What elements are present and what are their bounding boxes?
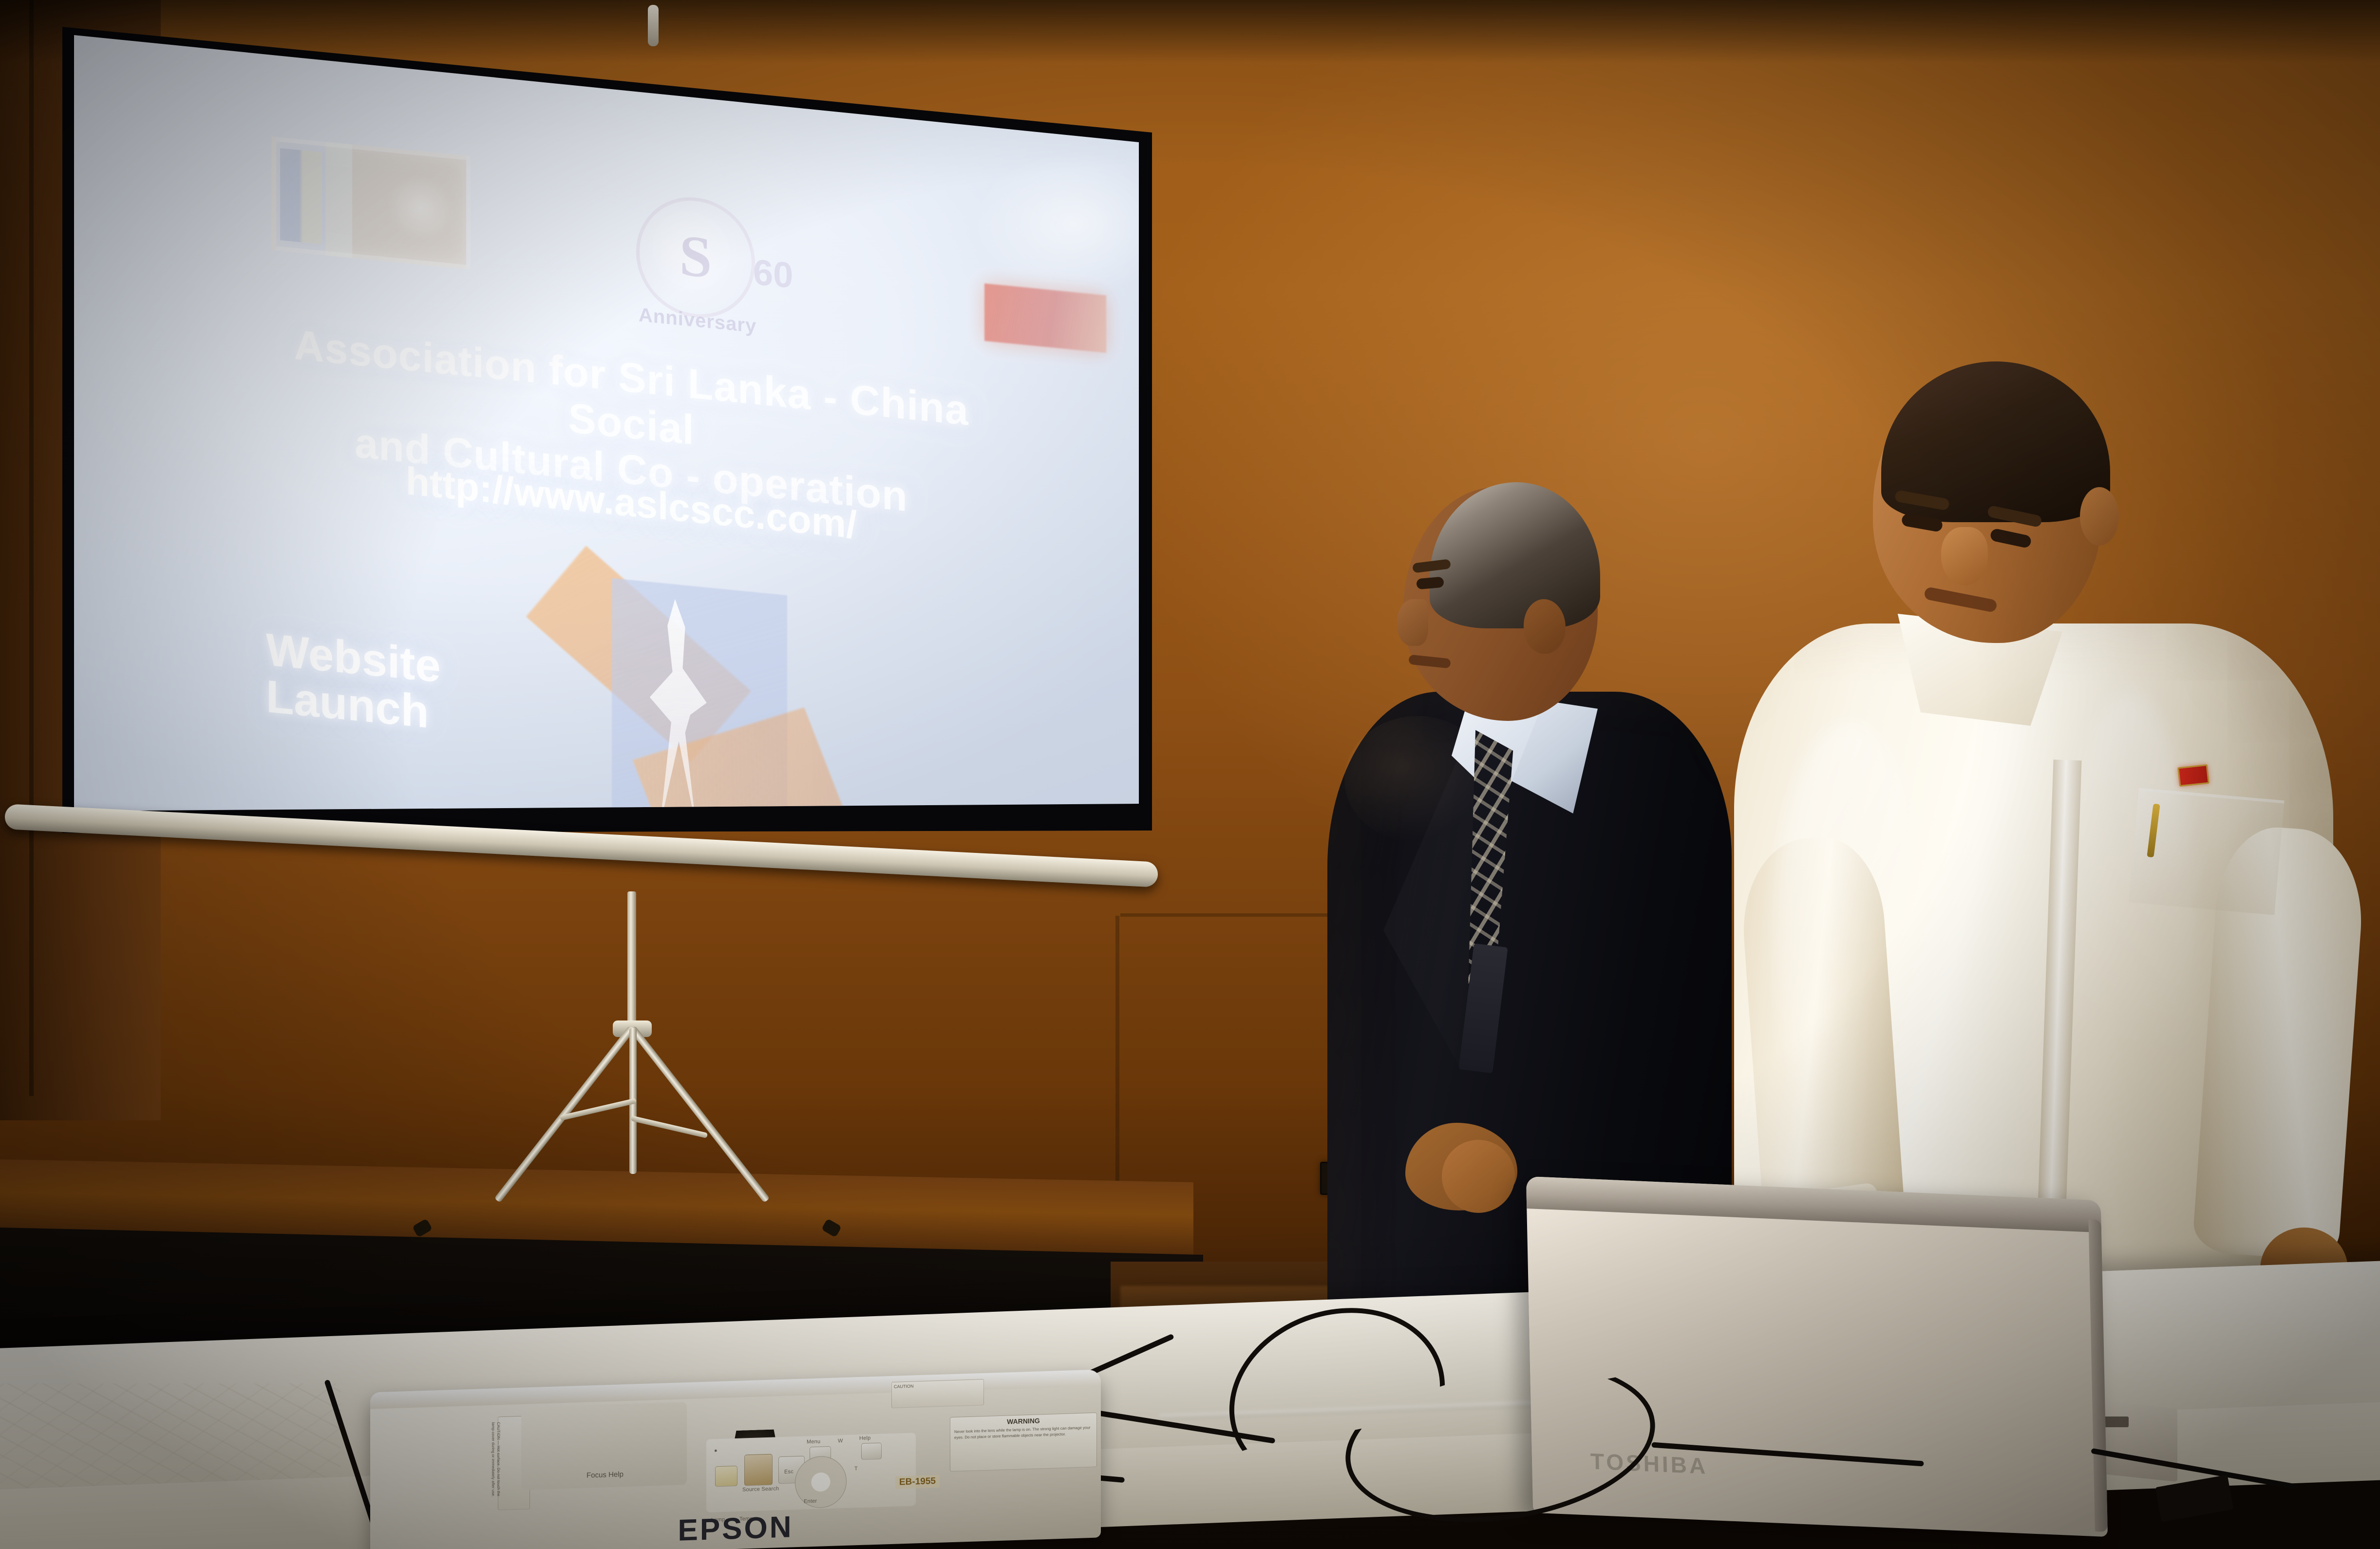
navigation-dpad[interactable] <box>795 1455 847 1509</box>
projector-warning-label: WARNING Never look into the lens while t… <box>950 1413 1097 1472</box>
projector-model-label: EB-1955 <box>895 1475 940 1489</box>
help-button[interactable] <box>861 1443 882 1460</box>
source-search-button[interactable] <box>744 1454 773 1486</box>
source-search-label: Source Search <box>742 1486 779 1492</box>
hand <box>1442 1140 1515 1213</box>
screen-hotspot <box>972 151 1143 297</box>
epson-projector[interactable]: CAUTION — Hot surface. Do not touch the … <box>370 1369 1101 1549</box>
slide-caption: Website Launch <box>266 626 539 746</box>
slide-artwork <box>500 562 841 813</box>
slide-caption-line2: Launch <box>266 673 539 746</box>
wide-button-label: W <box>838 1438 843 1444</box>
help-button-label: Help <box>859 1435 870 1441</box>
power-button[interactable] <box>715 1466 737 1487</box>
nose <box>1397 599 1428 646</box>
tripod-pole <box>627 891 636 1028</box>
projection-screen: S 60 Anniversary Association for Sri Lan… <box>58 5 1169 896</box>
projector-caution-label: CAUTION <box>891 1379 984 1408</box>
photo-scene: S 60 Anniversary Association for Sri Lan… <box>0 0 2380 1549</box>
seal-number: 60 <box>753 251 793 296</box>
sri-lanka-flag-logo <box>272 136 471 269</box>
microphone <box>648 5 659 46</box>
flag-lapel-pin <box>2177 764 2210 787</box>
wall-seam <box>29 0 34 1096</box>
enter-button-label: Enter <box>804 1498 817 1505</box>
seal-letter: S <box>680 221 712 292</box>
menu-button-label: Menu <box>807 1439 820 1445</box>
tele-button-label: T <box>854 1466 858 1472</box>
esc-button-label: Esc <box>784 1469 793 1475</box>
slide-content: S 60 Anniversary Association for Sri Lan… <box>71 33 1143 813</box>
flag-bars <box>280 148 322 245</box>
projector-control-panel[interactable]: ● Menu Help Source Search Enter Esc W T <box>706 1433 916 1512</box>
projector-side-label-text: CAUTION — Hot surface. Do not touch the … <box>491 1422 501 1505</box>
fabric-sheen <box>1773 721 1929 1159</box>
ear <box>1524 599 1566 654</box>
power-indicator-icon: ● <box>714 1448 718 1454</box>
flag-lion-icon <box>386 171 454 245</box>
anniversary-seal-logo: S <box>636 192 755 323</box>
ear <box>2080 487 2119 546</box>
warning-body: Never look into the lens while the lamp … <box>954 1425 1093 1441</box>
nose <box>1941 527 1988 586</box>
